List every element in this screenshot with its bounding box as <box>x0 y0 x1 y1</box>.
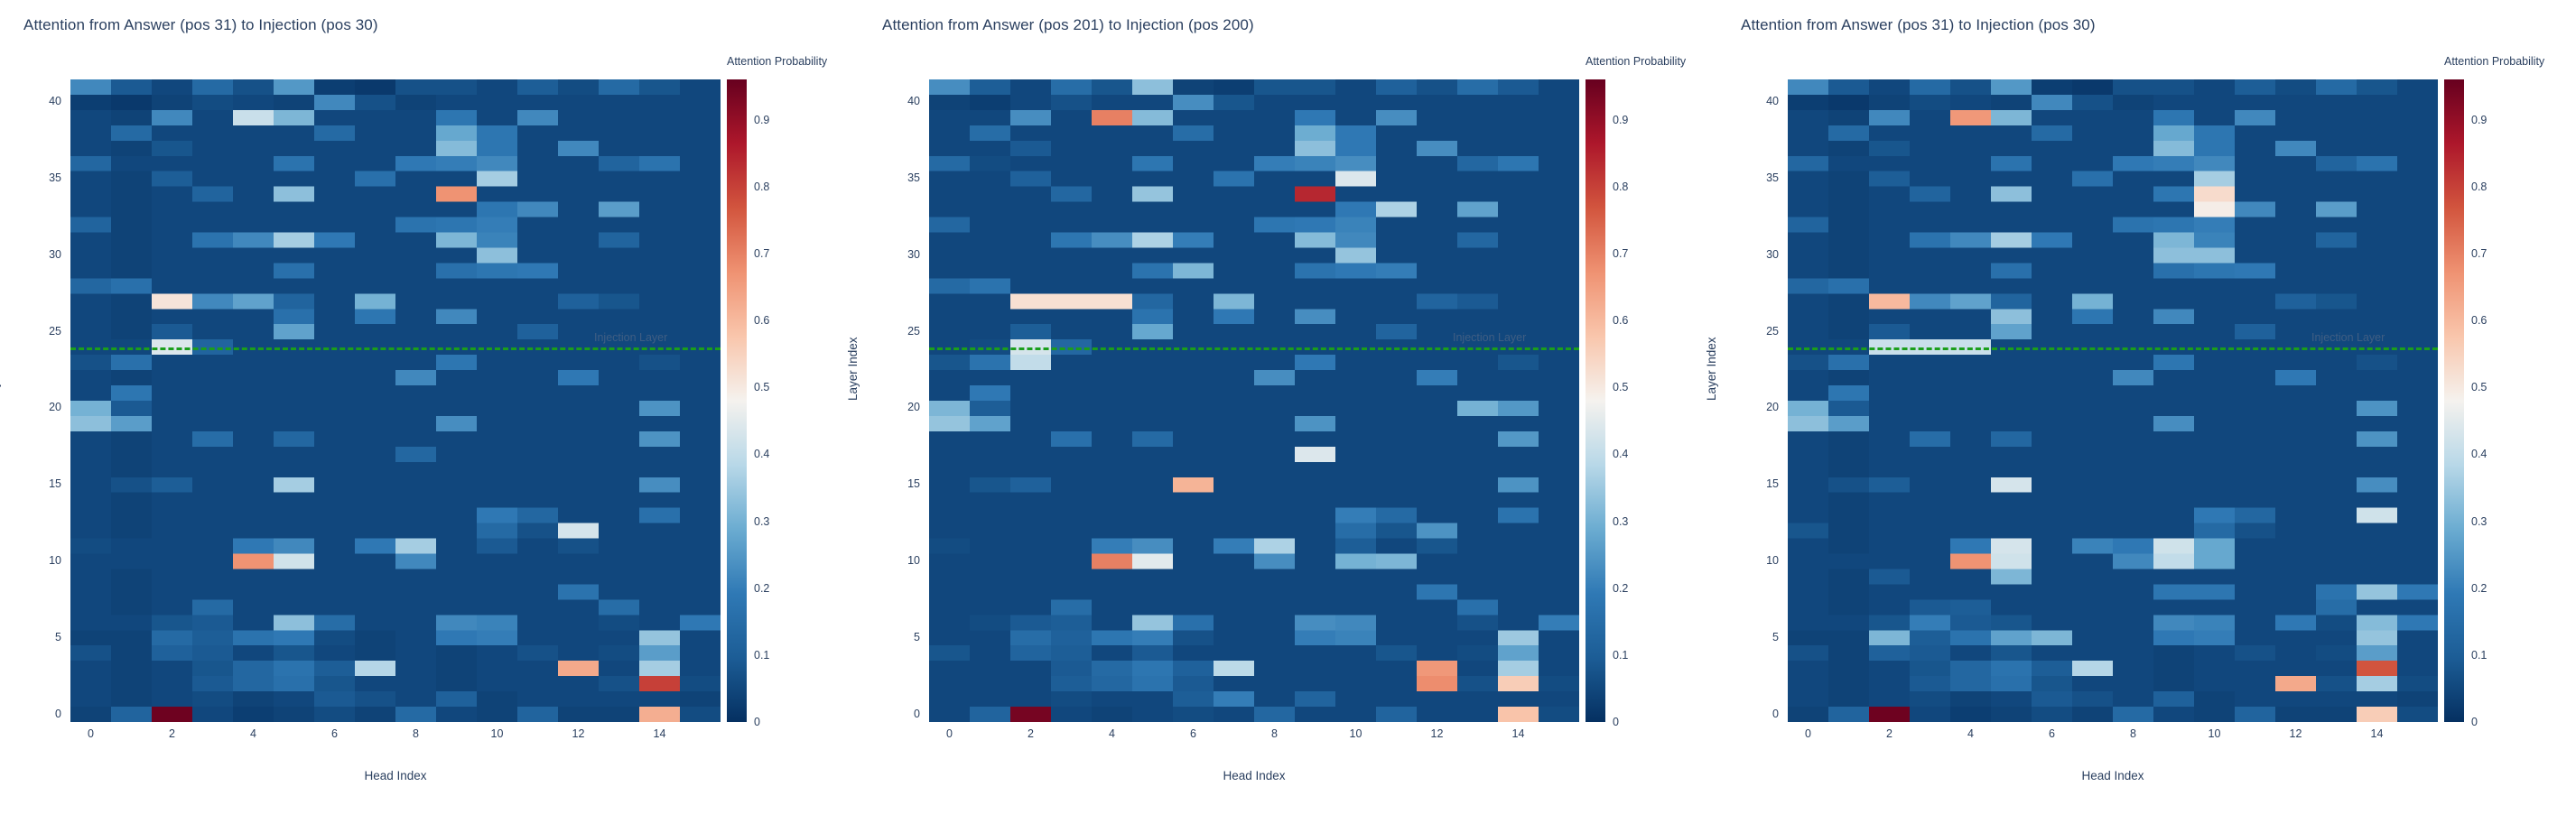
y-axis-tick-label: 35 <box>25 171 61 184</box>
x-axis-tick-label: 0 <box>1790 727 1827 740</box>
heatmap-plot-area[interactable] <box>929 79 1579 722</box>
colorbar-tick-label: 0.3 <box>754 515 769 528</box>
y-axis-tick-label: 40 <box>1743 95 1779 107</box>
colorbar-tick-label: 0.6 <box>754 314 769 327</box>
y-axis-tick-label: 10 <box>1743 554 1779 567</box>
colorbar-title: Attention Probability <box>2444 55 2544 68</box>
y-axis-tick-label: 25 <box>25 325 61 338</box>
y-axis-tick-label: 5 <box>25 631 61 643</box>
y-axis-title: Layer Index <box>0 337 1 401</box>
y-axis-tick-label: 40 <box>884 95 920 107</box>
colorbar-tick-label: 0.7 <box>754 247 769 260</box>
y-axis-tick-label: 10 <box>884 554 920 567</box>
colorbar-tick-label: 0.5 <box>2471 381 2487 393</box>
x-axis-title: Head Index <box>929 769 1579 782</box>
colorbar-tick-label: 0.9 <box>754 114 769 126</box>
x-axis-title: Head Index <box>70 769 721 782</box>
heatmap-plot-area[interactable] <box>1788 79 2438 722</box>
colorbar-tick-label: 0.3 <box>2471 515 2487 528</box>
heatmap-plot-area[interactable] <box>70 79 721 722</box>
y-axis-tick-label: 25 <box>1743 325 1779 338</box>
colorbar-title: Attention Probability <box>727 55 827 68</box>
colorbar-tick-label: 0.8 <box>2471 180 2487 193</box>
x-axis-tick-label: 12 <box>2278 727 2314 740</box>
y-axis-title: Layer Index <box>1705 337 1718 401</box>
x-axis-tick-label: 8 <box>398 727 434 740</box>
y-axis-tick-label: 0 <box>884 708 920 720</box>
x-axis-tick-label: 12 <box>561 727 597 740</box>
y-axis-tick-label: 30 <box>884 248 920 261</box>
colorbar-tick-label: 0.1 <box>754 649 769 662</box>
colorbar-gradient <box>2444 79 2464 722</box>
y-axis-tick-label: 15 <box>884 477 920 490</box>
colorbar-tick-label: 0 <box>1613 716 1619 728</box>
x-axis-tick-label: 4 <box>1953 727 1989 740</box>
colorbar-gradient <box>1586 79 1605 722</box>
y-axis-tick-label: 25 <box>884 325 920 338</box>
colorbar-tick-label: 0.2 <box>1613 582 1628 595</box>
heatmap-panel-2: Attention from Answer (pos 201) to Injec… <box>859 0 1717 833</box>
injection-layer-label: Injection Layer <box>1453 331 1526 344</box>
x-axis-tick-label: 2 <box>1872 727 1908 740</box>
colorbar-tick-label: 0.4 <box>2471 448 2487 460</box>
x-axis-title: Head Index <box>1788 769 2438 782</box>
colorbar-tick-label: 0.8 <box>754 180 769 193</box>
heatmap-panel-3: Attention from Answer (pos 31) to Inject… <box>1717 0 2576 833</box>
x-axis-tick-label: 4 <box>236 727 272 740</box>
colorbar-tick-label: 0.6 <box>1613 314 1628 327</box>
colorbar-tick-label: 0 <box>2471 716 2478 728</box>
injection-layer-label: Injection Layer <box>2311 331 2385 344</box>
x-axis-tick-label: 8 <box>2116 727 2152 740</box>
x-axis-tick-label: 14 <box>1501 727 1537 740</box>
colorbar-tick-label: 0 <box>754 716 760 728</box>
colorbar-tick-label: 0.5 <box>754 381 769 393</box>
panel-title: Attention from Answer (pos 31) to Inject… <box>1741 16 2096 34</box>
colorbar-tick-label: 0.5 <box>1613 381 1628 393</box>
y-axis-tick-label: 5 <box>1743 631 1779 643</box>
colorbar-tick-label: 0.7 <box>2471 247 2487 260</box>
y-axis-tick-label: 40 <box>25 95 61 107</box>
heatmap-cells[interactable] <box>1788 79 2438 722</box>
colorbar-tick-label: 0.9 <box>2471 114 2487 126</box>
heatmap-panel-1: Attention from Answer (pos 31) to Inject… <box>0 0 859 833</box>
colorbar-tick-label: 0.1 <box>2471 649 2487 662</box>
injection-layer-label: Injection Layer <box>594 331 667 344</box>
y-axis-tick-label: 20 <box>884 401 920 413</box>
x-axis-tick-label: 10 <box>1338 727 1374 740</box>
colorbar-tick-label: 0.1 <box>1613 649 1628 662</box>
x-axis-tick-label: 10 <box>479 727 516 740</box>
y-axis-tick-label: 30 <box>25 248 61 261</box>
y-axis-tick-label: 20 <box>25 401 61 413</box>
x-axis-tick-label: 4 <box>1094 727 1130 740</box>
y-axis-tick-label: 35 <box>1743 171 1779 184</box>
x-axis-tick-label: 6 <box>317 727 353 740</box>
panel-title: Attention from Answer (pos 31) to Inject… <box>23 16 378 34</box>
x-axis-tick-label: 0 <box>73 727 109 740</box>
x-axis-tick-label: 8 <box>1257 727 1293 740</box>
x-axis-tick-label: 6 <box>1176 727 1212 740</box>
panel-title: Attention from Answer (pos 201) to Injec… <box>882 16 1254 34</box>
x-axis-tick-label: 0 <box>932 727 968 740</box>
y-axis-tick-label: 15 <box>1743 477 1779 490</box>
y-axis-tick-label: 5 <box>884 631 920 643</box>
y-axis-tick-label: 15 <box>25 477 61 490</box>
x-axis-tick-label: 12 <box>1419 727 1455 740</box>
y-axis-tick-label: 30 <box>1743 248 1779 261</box>
x-axis-tick-label: 6 <box>2034 727 2070 740</box>
colorbar-title: Attention Probability <box>1586 55 1686 68</box>
y-axis-tick-label: 20 <box>1743 401 1779 413</box>
colorbar-tick-label: 0.2 <box>2471 582 2487 595</box>
attention-heatmap-figure: Attention from Answer (pos 31) to Inject… <box>0 0 2576 833</box>
y-axis-title: Layer Index <box>846 337 860 401</box>
colorbar-tick-label: 0.9 <box>1613 114 1628 126</box>
x-axis-tick-label: 14 <box>642 727 678 740</box>
colorbar-tick-label: 0.4 <box>754 448 769 460</box>
x-axis-tick-label: 2 <box>154 727 191 740</box>
y-axis-tick-label: 0 <box>25 708 61 720</box>
y-axis-tick-label: 10 <box>25 554 61 567</box>
colorbar-tick-label: 0.3 <box>1613 515 1628 528</box>
colorbar-tick-label: 0.6 <box>2471 314 2487 327</box>
y-axis-tick-label: 0 <box>1743 708 1779 720</box>
x-axis-tick-label: 2 <box>1013 727 1049 740</box>
colorbar-tick-label: 0.7 <box>1613 247 1628 260</box>
y-axis-tick-label: 35 <box>884 171 920 184</box>
heatmap-cells[interactable] <box>929 79 1579 722</box>
x-axis-tick-label: 14 <box>2359 727 2395 740</box>
colorbar-tick-label: 0.4 <box>1613 448 1628 460</box>
x-axis-tick-label: 10 <box>2197 727 2233 740</box>
colorbar-tick-label: 0.8 <box>1613 180 1628 193</box>
heatmap-cells[interactable] <box>70 79 721 722</box>
colorbar-gradient <box>727 79 747 722</box>
colorbar-tick-label: 0.2 <box>754 582 769 595</box>
